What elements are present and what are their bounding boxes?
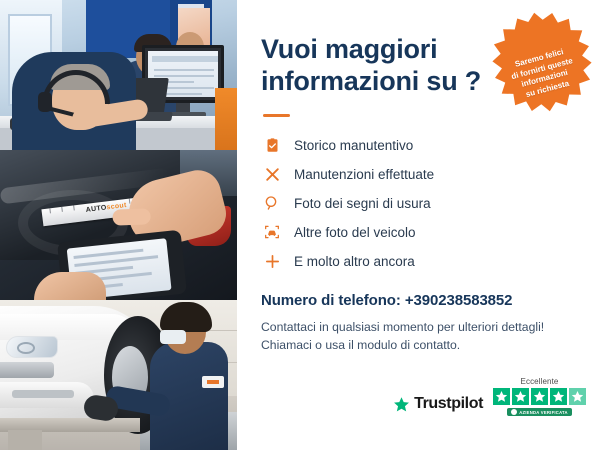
mechanic-wheel-inspection-photo [0,300,237,450]
list-item: E molto altro ancora [261,247,578,276]
list-item: Storico manutentivo [261,131,578,160]
content-panel: Vuoi maggiori informazioni su ? Storico … [237,0,600,450]
trustpilot-star-icon [393,396,410,413]
check-icon [511,409,517,415]
phone-label: Numero di telefono: [261,292,401,309]
star-filled [569,388,586,405]
list-item: Altre foto del veicolo [261,218,578,247]
page-title: Vuoi maggiori informazioni su ? [261,34,486,98]
car-scan-icon [261,222,283,242]
request-info-badge: Saremo felici di fornirti queste informa… [483,3,600,122]
list-item-label: E molto altro ancora [294,254,415,269]
magnifier-icon [261,193,283,213]
photo-column: AUTOscout [0,0,237,450]
headset-icon [529,34,548,51]
vehicle-damage-measurement-photo: AUTOscout [0,150,237,300]
call-center-operators-photo [0,0,237,150]
star-filled [531,388,548,405]
star-filled [493,388,510,405]
trustpilot-score: Eccellente AZIENDA VERIFICATA [493,377,586,416]
trustpilot-logo[interactable]: Trustpilot [393,395,483,416]
feature-list: Storico manutentivo Manutenzioni effettu… [261,131,578,276]
trustpilot-rating[interactable]: Trustpilot Eccellente AZIENDA VERIFICATA [393,377,586,416]
info-request-card: AUTOscout [0,0,600,450]
verified-label: AZIENDA VERIFICATA [519,410,568,415]
star-filled [550,388,567,405]
list-item: Foto dei segni di usura [261,189,578,218]
crossed-tools-icon [261,164,283,184]
phone-value: +390238583852 [405,292,513,309]
star-filled [512,388,529,405]
verified-badge: AZIENDA VERIFICATA [507,408,572,416]
trustpilot-wordmark: Trustpilot [414,395,483,413]
list-item-label: Altre foto del veicolo [294,225,416,240]
list-item-label: Foto dei segni di usura [294,196,431,211]
plus-icon [261,251,283,271]
contact-instructions: Contattaci in qualsiasi momento per ulte… [261,318,578,355]
badge-text: Saremo felici di fornirti queste informa… [508,45,580,102]
contact-line-2: Chiamaci o usa il modulo di contatto. [261,336,578,354]
phone-number[interactable]: Numero di telefono: +390238583852 [261,292,578,309]
title-divider [263,114,290,117]
star-rating [493,388,586,405]
rating-label: Eccellente [521,377,559,386]
contact-line-1: Contattaci in qualsiasi momento per ulte… [261,318,578,336]
list-item: Manutenzioni effettuate [261,160,578,189]
list-item-label: Manutenzioni effettuate [294,167,434,182]
list-item-label: Storico manutentivo [294,138,413,153]
clipboard-check-icon [261,135,283,155]
